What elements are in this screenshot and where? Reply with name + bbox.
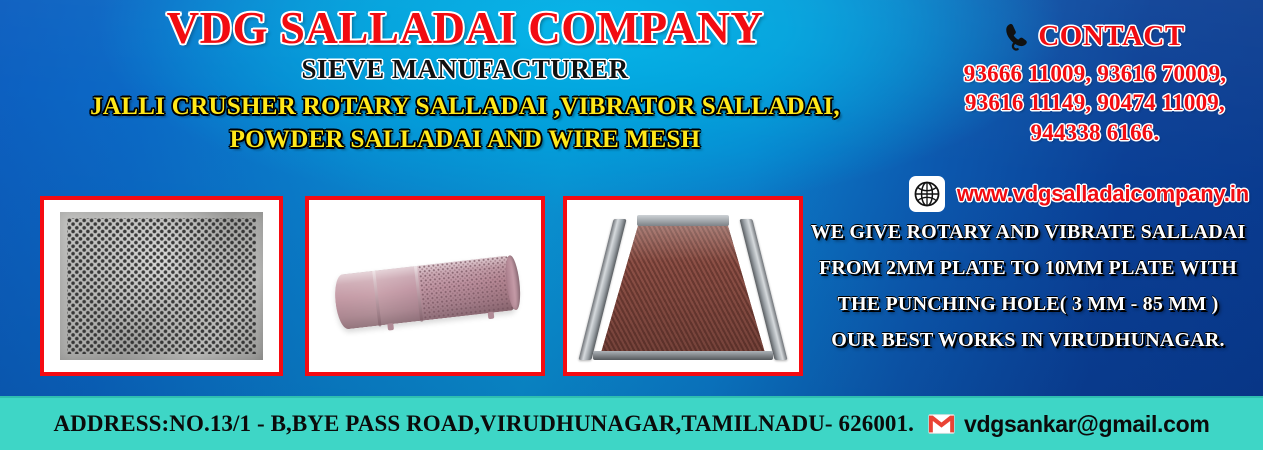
screen-top-bar [637,215,730,225]
phone-number-line[interactable]: 944338 6166. [935,118,1255,147]
product-line-1: JALLI CRUSHER ROTARY SALLADAI ,VIBRATOR … [0,92,930,123]
contact-label: CONTACT [1038,20,1184,53]
drum-foot [487,312,494,320]
globe-icon [909,176,945,212]
drum-scene [309,200,541,372]
wire-mesh-screen-photo [567,200,799,372]
phone-number-list: 93666 11009, 93616 70009, 93616 11149, 9… [935,59,1255,147]
description-line: THE PUNCHING HOLE( 3 MM - 85 MM ) [803,294,1253,314]
footer-bar: ADDRESS:NO.13/1 - B,BYE PASS ROAD,VIRUDH… [0,396,1263,450]
rotary-drum-body [332,255,520,330]
description-line: OUR BEST WORKS IN VIRUDHUNAGAR. [803,330,1253,350]
wire-mesh-deck [599,221,766,359]
company-subtitle: SIEVE MANUFACTURER [0,54,930,85]
product-photo-frame-rotary-drum [305,196,545,376]
contact-block: CONTACT 93666 11009, 93616 70009, 93616 … [935,20,1255,147]
email-group[interactable]: vdgsankar@gmail.com [928,411,1210,438]
description-line: FROM 2MM PLATE TO 10MM PLATE WITH [803,258,1253,278]
description-line: WE GIVE ROTARY AND VIBRATE SALLADAI [803,222,1253,242]
phone-number-line[interactable]: 93616 11149, 90474 11009, [935,88,1255,117]
headline-block: VDG SALLADAI COMPANY SIEVE MANUFACTURER … [0,6,930,156]
rotary-drum-photo [309,200,541,372]
company-title: VDG SALLADAI COMPANY [0,6,930,52]
product-photo-frame-wire-mesh [563,196,803,376]
screen-scene [567,200,799,372]
website-row[interactable]: www.vdgsalladaicompany.in [909,176,1249,212]
product-line-2: POWDER SALLADAI AND WIRE MESH [0,125,930,156]
description-block: WE GIVE ROTARY AND VIBRATE SALLADAI FROM… [803,222,1253,350]
phone-handset-icon [1005,22,1031,52]
perforated-sheet-photo [44,200,279,372]
drum-band [372,270,381,327]
contact-heading: CONTACT [935,20,1255,53]
address-text: ADDRESS:NO.13/1 - B,BYE PASS ROAD,VIRUDH… [53,411,914,437]
product-photo-frame-perforated-sheet [40,196,283,376]
gmail-icon [928,414,955,434]
perforated-plate-body [60,212,262,360]
advertisement-banner: VDG SALLADAI COMPANY SIEVE MANUFACTURER … [0,0,1263,450]
drum-foot [387,323,394,331]
perforation-pattern-offset [67,218,257,354]
phone-number-line[interactable]: 93666 11009, 93616 70009, [935,59,1255,88]
website-url[interactable]: www.vdgsalladaicompany.in [957,181,1249,207]
screen-bottom-bar [593,351,774,360]
email-address[interactable]: vdgsankar@gmail.com [964,411,1210,438]
